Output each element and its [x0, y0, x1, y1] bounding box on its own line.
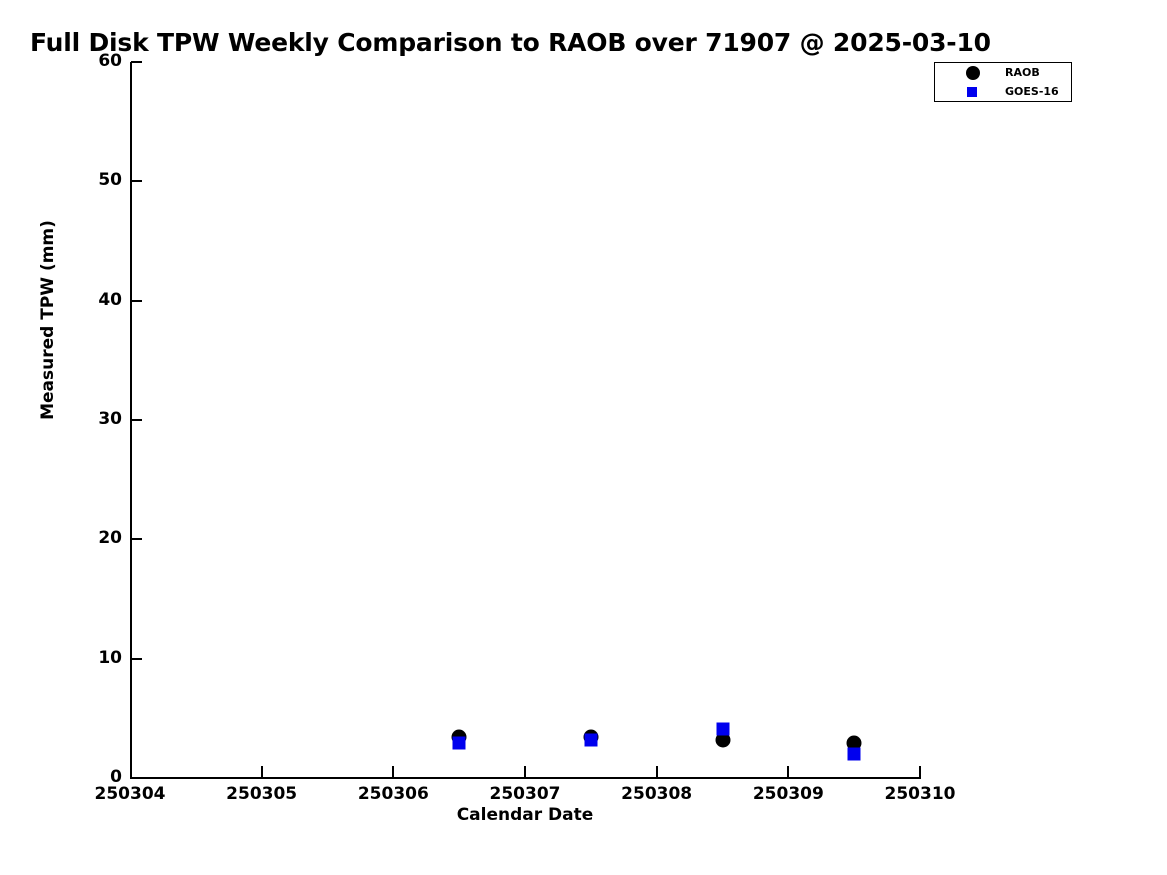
data-point-goes16 [848, 748, 861, 761]
y-axis-tick-label: 20 [62, 528, 122, 548]
y-axis-tick-label: 10 [62, 648, 122, 668]
chart-figure: Full Disk TPW Weekly Comparison to RAOB … [0, 0, 1167, 875]
y-axis-tick-label: 30 [62, 409, 122, 429]
y-axis-tick-label: 50 [62, 170, 122, 190]
data-point-goes16 [453, 737, 466, 750]
x-axis-tick-label: 250310 [860, 784, 980, 804]
y-axis-label: Measured TPW (mm) [38, 200, 58, 440]
filled-square-marker-icon [959, 82, 987, 102]
x-axis-tick-label: 250304 [70, 784, 190, 804]
y-axis-tick-label: 60 [62, 51, 122, 71]
plot-area [130, 62, 920, 778]
x-axis-tick-label: 250308 [597, 784, 717, 804]
filled-circle-marker-icon [959, 63, 987, 83]
y-axis-tick-label: 40 [62, 290, 122, 310]
x-axis-tick-label: 250307 [465, 784, 585, 804]
chart-title: Full Disk TPW Weekly Comparison to RAOB … [30, 28, 991, 57]
x-axis-tick-label: 250305 [202, 784, 322, 804]
data-point-goes16 [716, 723, 729, 736]
x-axis-label: Calendar Date [130, 805, 920, 825]
data-point-goes16 [584, 733, 597, 746]
legend-label-raob: RAOB [1005, 66, 1040, 79]
x-axis-tick-label: 250306 [333, 784, 453, 804]
legend-item-goes16: GOES-16 [935, 82, 1073, 102]
legend-item-raob: RAOB [935, 63, 1073, 83]
chart-legend: RAOB GOES-16 [934, 62, 1072, 102]
x-axis-tick-label: 250309 [728, 784, 848, 804]
legend-label-goes16: GOES-16 [1005, 85, 1059, 98]
